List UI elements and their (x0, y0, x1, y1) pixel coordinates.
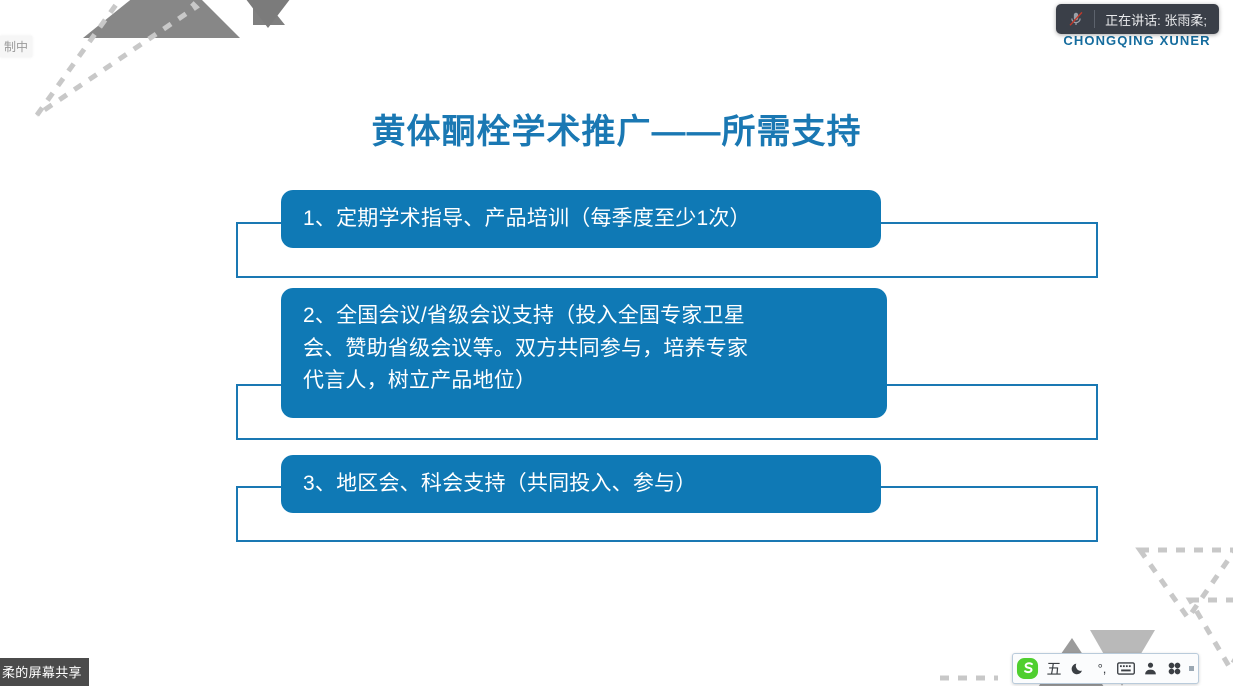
sogou-pinyin-logo[interactable] (1015, 656, 1040, 681)
screen-share-status-text: 柔的屏幕共享 (2, 665, 82, 680)
callout-1-line-1: 1、定期学术指导、产品培训（每季度至少1次） (303, 203, 751, 236)
callout-2-line-3: 代言人，树立产品地位） (303, 365, 748, 398)
user-account-icon[interactable] (1138, 657, 1162, 681)
callout-item-3: 3、地区会、科会支持（共同投入、参与） (281, 455, 881, 513)
wubi-mode-icon[interactable]: 五 (1042, 657, 1066, 681)
punctuation-mode-icon[interactable]: °, (1090, 657, 1114, 681)
speaking-bar-divider (1094, 10, 1095, 28)
microphone-muted-icon[interactable] (1066, 9, 1086, 29)
ime-drag-handle[interactable] (1189, 666, 1194, 671)
slide-canvas: CHONGQING XUNER 黄体酮栓学术推广——所需支持 1、定期学术指导、… (0, 0, 1233, 686)
sogou-ime-toolbar[interactable]: 五 °, (1012, 653, 1199, 684)
brand-name-en: CHONGQING XUNER (1057, 33, 1217, 48)
slide-title: 黄体酮栓学术推广——所需支持 (0, 112, 1233, 153)
recording-status-label: 制中 (4, 40, 28, 54)
screen-share-status-label: 柔的屏幕共享 (0, 658, 89, 686)
recording-status-chip: 制中 (0, 36, 32, 57)
toolbox-icon[interactable] (1162, 657, 1186, 681)
speaking-indicator-bar[interactable]: 正在讲话: 张雨柔; (1056, 4, 1219, 34)
soft-keyboard-icon[interactable] (1114, 657, 1138, 681)
callout-item-1: 1、定期学术指导、产品培训（每季度至少1次） (281, 190, 881, 248)
moon-mode-icon[interactable] (1066, 657, 1090, 681)
speaking-label: 正在讲话: 张雨柔; (1105, 10, 1207, 29)
decoration-top-left-triangle-2 (232, 0, 312, 34)
callout-2-line-2: 会、赞助省级会议等。双方共同参与，培养专家 (303, 333, 748, 366)
callout-2-line-1: 2、全国会议/省级会议支持（投入全国专家卫星 (303, 300, 748, 333)
callout-3-line-1: 3、地区会、科会支持（共同投入、参与） (303, 468, 696, 501)
callout-item-2: 2、全国会议/省级会议支持（投入全国专家卫星 会、赞助省级会议等。双方共同参与，… (281, 288, 887, 418)
